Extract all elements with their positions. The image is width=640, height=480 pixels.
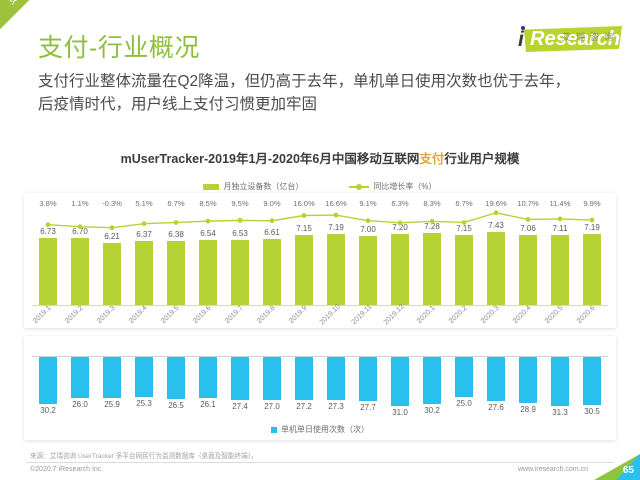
x-axis-label: 2019.1 — [32, 300, 64, 334]
x-axis-label: 2019.6 — [192, 300, 224, 334]
bar-column: 27.7 — [352, 357, 384, 429]
bar — [199, 240, 218, 306]
bar-column: 26.0 — [64, 357, 96, 429]
bar — [583, 234, 602, 306]
growth-rate-label: 11.4% — [544, 199, 576, 208]
bar — [231, 240, 250, 306]
growth-rate-label: 9.1% — [352, 199, 384, 208]
legend-item-line: 同比增长率（%） — [349, 181, 436, 192]
bar-column: 26.5 — [160, 357, 192, 429]
x-axis-label: 2019.10 — [320, 300, 352, 334]
bar-value-label: 6.21 — [104, 232, 120, 241]
bar — [295, 357, 314, 400]
legend-item-usage: 单机单日使用次数（次） — [271, 424, 369, 435]
growth-rate-label: 1.1% — [64, 199, 96, 208]
bar-value-label: 6.70 — [72, 227, 88, 236]
bar-value-label: 27.7 — [360, 403, 376, 412]
bar — [487, 357, 506, 401]
bar — [551, 357, 570, 406]
bar-value-label: 7.19 — [328, 223, 344, 232]
bar — [455, 357, 474, 397]
bar — [135, 241, 154, 306]
x-axis-label: 2020.5 — [544, 300, 576, 334]
bar-column: 25.3 — [128, 357, 160, 429]
bar-column: 28.9 — [512, 357, 544, 429]
footer-divider — [26, 462, 614, 463]
bar-value-label: 6.73 — [40, 227, 56, 236]
x-axis-label: 2019.4 — [128, 300, 160, 334]
x-axis-label: 2019.5 — [160, 300, 192, 334]
bar — [263, 357, 282, 400]
legend-label-usage: 单机单日使用次数（次） — [281, 424, 369, 435]
bar-column: 1.1%6.70 — [64, 199, 96, 306]
legend-item-bar: 月独立设备数（亿台） — [203, 181, 303, 192]
bar — [135, 357, 154, 397]
growth-rate-label: 10.7% — [512, 199, 544, 208]
x-axis-label: 2019.3 — [96, 300, 128, 334]
bar — [327, 234, 346, 306]
bar — [359, 357, 378, 401]
bar-column: 3.8%6.73 — [32, 199, 64, 306]
bar-value-label: 26.1 — [200, 400, 216, 409]
bar-value-label: 7.28 — [424, 222, 440, 231]
bar-value-label: 27.2 — [296, 402, 312, 411]
bar — [39, 238, 58, 306]
x-axis-label: 2019.9 — [288, 300, 320, 334]
legend-label-bar: 月独立设备数（亿台） — [223, 181, 303, 192]
growth-rate-label: 16.6% — [320, 199, 352, 208]
bar-value-label: 6.38 — [168, 230, 184, 239]
growth-rate-label: 5.1% — [128, 199, 160, 208]
corner-ribbon-label: 支付 — [4, 0, 27, 7]
growth-rate-label: 16.0% — [288, 199, 320, 208]
bar-column: 30.2 — [32, 357, 64, 429]
bar-value-label: 7.19 — [584, 223, 600, 232]
bar-column: 6.7%6.38 — [160, 199, 192, 306]
bar-column: 8.5%6.54 — [192, 199, 224, 306]
bar-column: 27.0 — [256, 357, 288, 429]
source-note: 来源：艾瑞咨询 UserTracker 多平台网民行为监测数据库（桌面及智能终端… — [30, 450, 258, 460]
growth-rate-label: 6.7% — [160, 199, 192, 208]
bar — [551, 235, 570, 306]
growth-rate-label: 9.0% — [256, 199, 288, 208]
bar-value-label: 7.20 — [392, 223, 408, 232]
bar-value-label: 6.37 — [136, 230, 152, 239]
green-columns: 3.8%6.731.1%6.70-0.3%6.215.1%6.376.7%6.3… — [32, 199, 608, 306]
bar — [295, 235, 314, 306]
bar — [103, 357, 122, 398]
bar-value-label: 6.54 — [200, 229, 216, 238]
bar-column: 27.2 — [288, 357, 320, 429]
page-number: 65 — [623, 465, 634, 476]
bar-column: 16.6%7.19 — [320, 199, 352, 306]
bar-value-label: 7.15 — [456, 224, 472, 233]
legend-swatch-bar-icon — [203, 184, 219, 190]
bar-value-label: 27.3 — [328, 402, 344, 411]
bar-column: 31.0 — [384, 357, 416, 429]
bar — [423, 357, 442, 404]
bar — [167, 357, 186, 399]
bar-column: 11.4%7.11 — [544, 199, 576, 306]
x-axis-label: 2020.4 — [512, 300, 544, 334]
page-title: 支付-行业概况 — [38, 28, 200, 64]
bar — [359, 236, 378, 306]
legend-label-line: 同比增长率（%） — [373, 181, 436, 192]
bar-column: 19.6%7.43 — [480, 199, 512, 306]
bar — [423, 233, 442, 306]
x-axis-label: 2020.2 — [448, 300, 480, 334]
brand-initial: i — [518, 28, 524, 52]
bar — [199, 357, 218, 398]
bar-column: 30.5 — [576, 357, 608, 429]
growth-rate-label: 6.3% — [384, 199, 416, 208]
bar-value-label: 28.9 — [520, 405, 536, 414]
bar-column: 16.0%7.15 — [288, 199, 320, 306]
bar-value-label: 7.00 — [360, 225, 376, 234]
growth-rate-label: -0.3% — [96, 199, 128, 208]
bar-value-label: 31.3 — [552, 408, 568, 417]
x-axis-label: 2019.12 — [384, 300, 416, 334]
bar-value-label: 7.06 — [520, 224, 536, 233]
x-axis-label: 2019.2 — [64, 300, 96, 334]
legend-swatch-square-icon — [271, 427, 277, 433]
bar-column: 5.1%6.37 — [128, 199, 160, 306]
bar — [519, 235, 538, 306]
bar-value-label: 27.0 — [264, 402, 280, 411]
x-axis-label: 2020.1 — [416, 300, 448, 334]
page-subtitle: 支付行业整体流量在Q2降温，但仍高于去年，单机单日使用次数也优于去年，后疫情时代… — [38, 70, 578, 116]
bar-column: 27.6 — [480, 357, 512, 429]
bar-column: -0.3%6.21 — [96, 199, 128, 306]
bar — [391, 357, 410, 406]
growth-rate-label: 9.9% — [576, 199, 608, 208]
bar-column: 27.3 — [320, 357, 352, 429]
bar-column: 31.3 — [544, 357, 576, 429]
bar — [71, 238, 90, 306]
x-axis-labels: 2019.12019.22019.32019.42019.52019.62019… — [24, 300, 616, 334]
bar-value-label: 30.2 — [424, 406, 440, 415]
x-axis-label: 2019.11 — [352, 300, 384, 334]
growth-rate-label: 9.5% — [224, 199, 256, 208]
bar — [391, 234, 410, 306]
bar-column: 9.9%7.19 — [576, 199, 608, 306]
bar-value-label: 30.5 — [584, 407, 600, 416]
bar — [263, 239, 282, 306]
bar-column: 27.4 — [224, 357, 256, 429]
bar-column: 26.1 — [192, 357, 224, 429]
bar — [231, 357, 250, 400]
bar-value-label: 6.53 — [232, 229, 248, 238]
x-axis-label: 2020.6 — [576, 300, 608, 334]
chart-legend-green: 月独立设备数（亿台） 同比增长率（%） — [0, 181, 640, 192]
bar-value-label: 26.5 — [168, 401, 184, 410]
chart-title-suffix: 行业用户规模 — [444, 152, 519, 166]
website-url: www.iresearch.com.cn — [518, 466, 588, 473]
bar — [327, 357, 346, 400]
bar — [583, 357, 602, 405]
growth-rate-label: 8.3% — [416, 199, 448, 208]
bar-value-label: 30.2 — [40, 406, 56, 415]
bar-value-label: 6.61 — [264, 228, 280, 237]
chart-panel-blue: 30.226.025.925.326.526.127.427.027.227.3… — [24, 336, 616, 440]
blue-columns: 30.226.025.925.326.526.127.427.027.227.3… — [32, 357, 608, 429]
chart-legend-blue: 单机单日使用次数（次） — [24, 424, 616, 435]
bar-column: 25.0 — [448, 357, 480, 429]
bar-column: 8.3%7.28 — [416, 199, 448, 306]
bar-value-label: 25.0 — [456, 399, 472, 408]
bar — [39, 357, 58, 404]
bar-column: 25.9 — [96, 357, 128, 429]
bar-value-label: 25.9 — [104, 400, 120, 409]
bar-value-label: 27.4 — [232, 402, 248, 411]
bar-column: 9.5%6.53 — [224, 199, 256, 306]
legend-swatch-line-icon — [349, 184, 369, 190]
growth-rate-label: 8.5% — [192, 199, 224, 208]
growth-rate-label: 19.6% — [480, 199, 512, 208]
brand-chinese-name: 艾瑞咨询 — [562, 30, 618, 43]
bar-column: 9.1%7.00 — [352, 199, 384, 306]
bar-column: 10.7%7.06 — [512, 199, 544, 306]
bar — [103, 243, 122, 306]
bar-value-label: 27.6 — [488, 403, 504, 412]
growth-rate-label: 3.8% — [32, 199, 64, 208]
bar-column: 9.0%6.61 — [256, 199, 288, 306]
bar — [167, 241, 186, 306]
bar-value-label: 31.0 — [392, 408, 408, 417]
bar-value-label: 7.43 — [488, 221, 504, 230]
bar — [487, 232, 506, 306]
bar — [455, 235, 474, 306]
chart-title-highlight: 支付 — [419, 152, 444, 166]
bar — [519, 357, 538, 403]
x-axis-label: 2019.8 — [256, 300, 288, 334]
bar-column: 6.7%7.15 — [448, 199, 480, 306]
bar-value-label: 25.3 — [136, 399, 152, 408]
growth-rate-label: 6.7% — [448, 199, 480, 208]
bar-column: 6.3%7.20 — [384, 199, 416, 306]
bar-value-label: 7.15 — [296, 224, 312, 233]
bar-value-label: 7.11 — [553, 224, 568, 233]
x-axis-label: 2019.7 — [224, 300, 256, 334]
copyright-text: ©2020.7 iResearch Inc. — [30, 466, 103, 473]
bar-column: 30.2 — [416, 357, 448, 429]
chart-title-prefix: mUserTracker-2019年1月-2020年6月中国移动互联网 — [121, 152, 420, 166]
chart-title: mUserTracker-2019年1月-2020年6月中国移动互联网支付行业用… — [0, 148, 640, 167]
bar-value-label: 26.0 — [72, 400, 88, 409]
x-axis-label: 2020.3 — [480, 300, 512, 334]
bar — [71, 357, 90, 398]
